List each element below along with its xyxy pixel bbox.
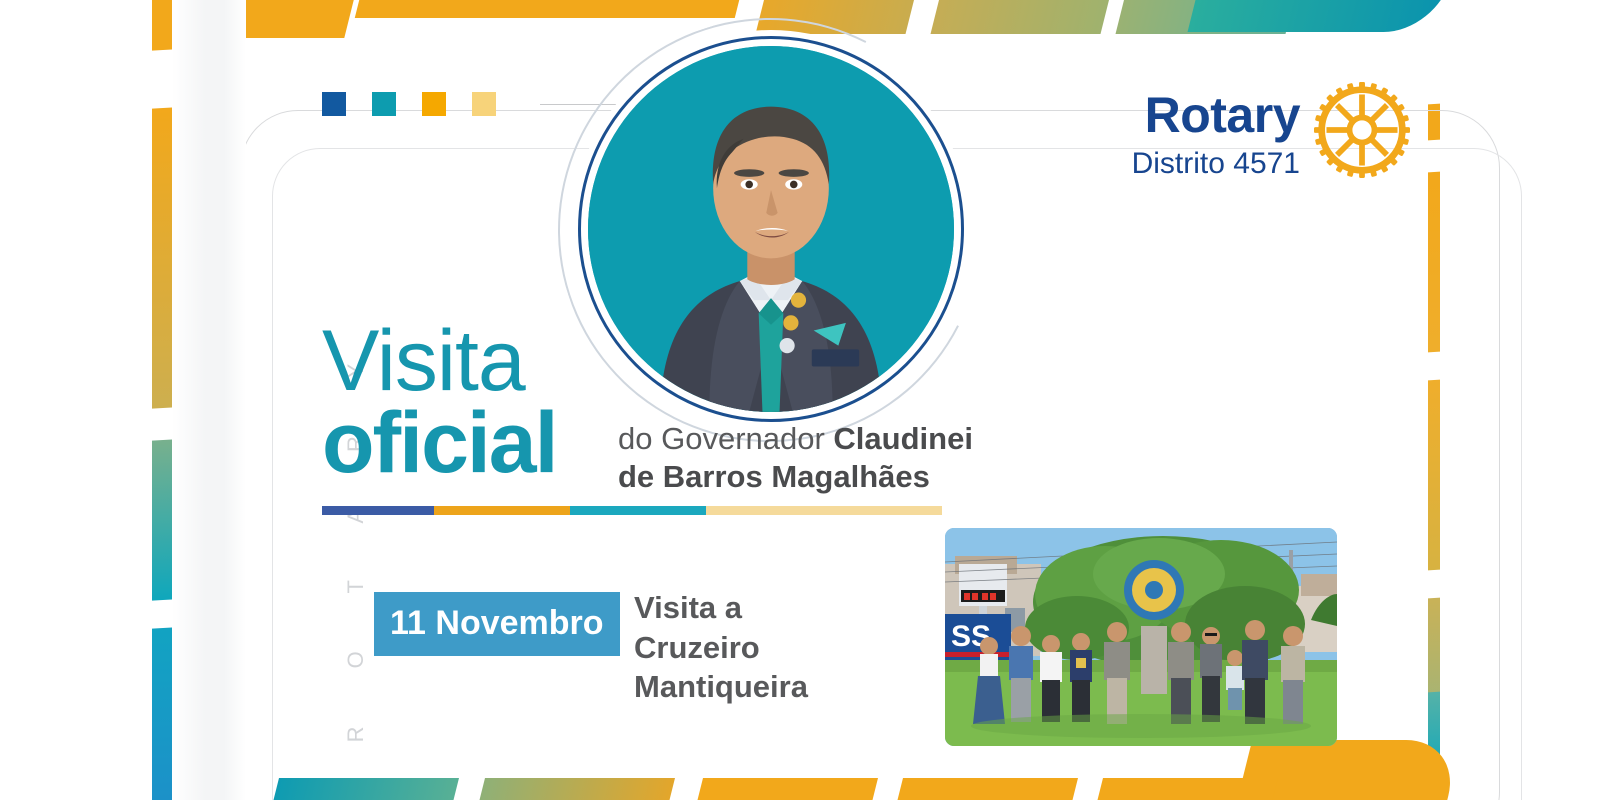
title-line-oficial: oficial [322, 401, 557, 485]
governor-portrait [578, 36, 964, 422]
group-photo: SS [945, 528, 1337, 746]
dash-left-1 [152, 0, 174, 51]
rotary-wheel-icon [1314, 82, 1410, 178]
rotary-district-label: Distrito 4571 [1132, 144, 1300, 183]
rule-gold [434, 506, 570, 515]
rotary-logo: Rotary Distrito 4571 [1132, 82, 1410, 183]
governor-name: do Governador Claudinei de Barros Magalh… [618, 420, 973, 496]
title-block: Visita oficial [322, 322, 557, 485]
rotary-logo-text: Rotary Distrito 4571 [1132, 82, 1300, 183]
title-line-visita: Visita [322, 322, 557, 401]
location-line-2: Cruzeiro [634, 628, 808, 668]
location-line-3: Mantiqueira [634, 667, 808, 707]
governor-first-name: Claudinei [833, 421, 973, 456]
rule-light-yellow [706, 506, 942, 515]
corner-shape-top-left-bar [355, 0, 749, 18]
color-rule [322, 506, 942, 515]
governor-portrait-image [588, 46, 954, 412]
dash-top-2 [931, 0, 1110, 34]
governor-last-name: de Barros Magalhães [618, 459, 930, 494]
poster-canvas: R O T A R Y Rotary Distrito 4571 [0, 0, 1600, 800]
rule-navy [322, 506, 434, 515]
governor-name-line2: de Barros Magalhães [618, 458, 973, 496]
dot-teal [372, 92, 396, 116]
dot-lightyellow [472, 92, 496, 116]
dash-left-3 [152, 439, 174, 600]
event-location: Visita a Cruzeiro Mantiqueira [634, 588, 808, 707]
dash-left-4 [152, 627, 174, 800]
governor-prefix: do Governador [618, 421, 833, 456]
governor-name-line1: do Governador Claudinei [618, 420, 973, 458]
group-photo-illustration: SS [945, 528, 1337, 746]
governor-portrait-illustration [588, 46, 954, 412]
rule-teal [570, 506, 706, 515]
dash-left-2 [152, 107, 174, 408]
location-line-1: Visita a [634, 588, 808, 628]
rotary-watermark: R O T A R Y [178, 300, 238, 780]
dot-gold [422, 92, 446, 116]
rotary-wordmark: Rotary [1132, 90, 1300, 140]
corner-shape-top-right [1188, 0, 1453, 32]
dot-blue [322, 92, 346, 116]
event-date-badge: 11 Novembro [374, 592, 620, 656]
